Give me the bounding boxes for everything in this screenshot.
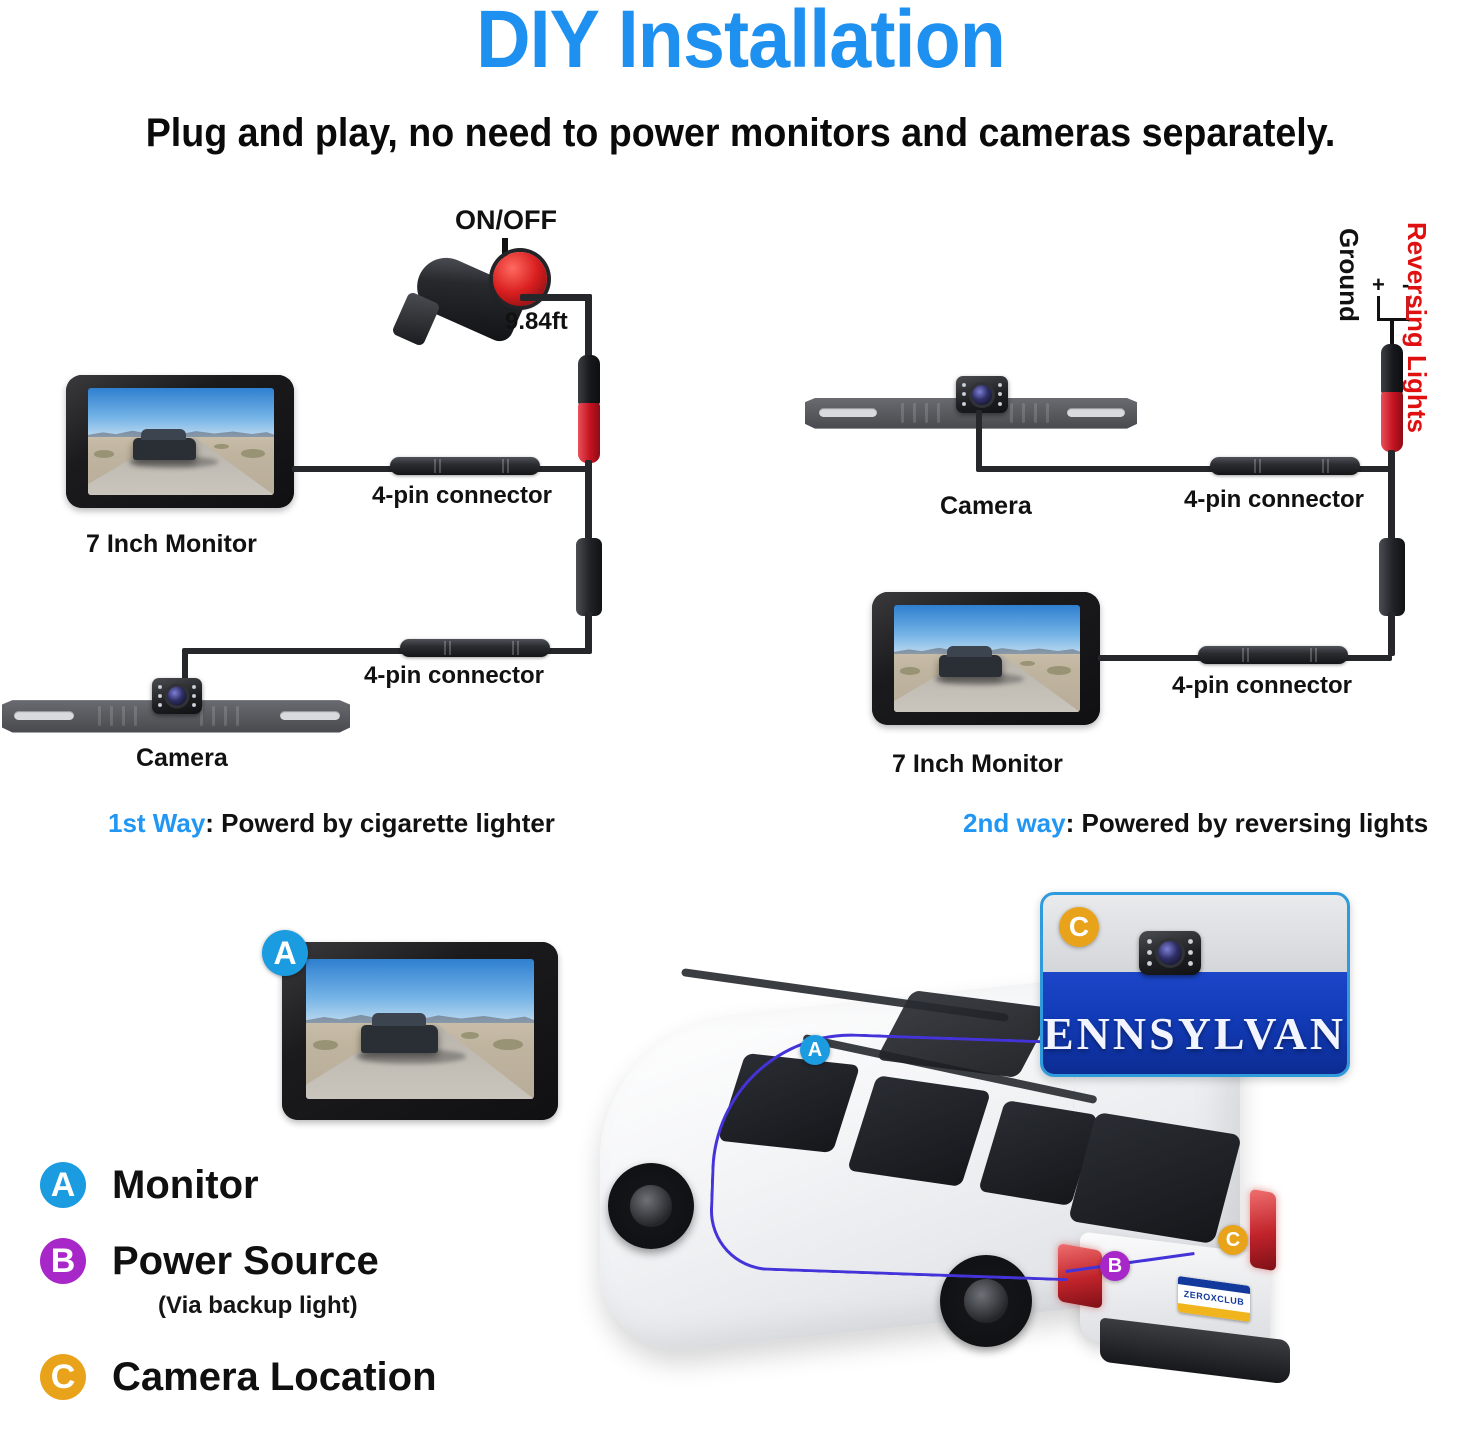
splitter-cable-down xyxy=(1388,612,1395,656)
caption-text: : Powered by reversing lights xyxy=(1066,808,1429,838)
front-wheel xyxy=(608,1163,694,1249)
camera-cable-down xyxy=(976,410,982,470)
4-pin-barrel-connector-icon xyxy=(400,639,550,657)
camera-icon xyxy=(1139,931,1201,975)
ground-lead-wire xyxy=(1377,296,1380,320)
wire-route-a-to-b xyxy=(708,1029,1076,1281)
legend-label-camera-location: Camera Location xyxy=(112,1355,437,1400)
reversing-lights-label: Reversing Lights xyxy=(1401,222,1432,433)
marker-b-car: B xyxy=(1100,1251,1130,1281)
camera-label: Camera xyxy=(136,744,228,773)
right-taillight xyxy=(1250,1189,1276,1272)
power-cable-segment xyxy=(520,294,592,301)
page-subtitle: Plug and play, no need to power monitors… xyxy=(44,108,1436,158)
marker-a-monitor: A xyxy=(262,930,308,976)
4-pin-barrel-connector-icon xyxy=(390,457,540,475)
rear-window-glass xyxy=(1068,1112,1242,1244)
legend-item-monitor: A Monitor xyxy=(40,1162,437,1208)
monitor-label: 7 Inch Monitor xyxy=(86,530,257,559)
monitor-screen-scene xyxy=(88,388,274,495)
monitor-photo xyxy=(282,942,558,1120)
legend-sublabel-power-source: (Via backup light) xyxy=(158,1292,437,1320)
legend-item-power-source: B Power Source xyxy=(40,1238,437,1284)
connector-label-bottom: 4-pin connector xyxy=(364,662,544,690)
monitor-icon xyxy=(872,592,1100,725)
y-splitter-icon xyxy=(576,538,602,616)
monitor-label: 7 Inch Monitor xyxy=(892,750,1063,779)
camera-label: Camera xyxy=(940,492,1032,521)
ground-label: Ground xyxy=(1333,228,1364,322)
connector-label-top: 4-pin connector xyxy=(372,482,552,510)
4-pin-barrel-connector-icon xyxy=(1210,457,1360,475)
marker-c-car: C xyxy=(1218,1225,1248,1255)
dc-power-plug-icon xyxy=(1381,344,1403,452)
reversing-lead-wire xyxy=(1406,296,1409,320)
caption-2nd-way: 2nd way: Powered by reversing lights xyxy=(963,808,1428,839)
onoff-label: ON/OFF xyxy=(455,205,557,236)
monitor-icon xyxy=(66,375,294,508)
legend-label-monitor: Monitor xyxy=(112,1163,259,1208)
marker-a-car: A xyxy=(800,1035,830,1065)
legend-badge-b: B xyxy=(40,1238,86,1284)
infographic-page: DIY Installation Plug and play, no need … xyxy=(0,0,1481,1453)
caption-key: 2nd way xyxy=(963,808,1066,838)
legend-badge-c: C xyxy=(40,1354,86,1400)
caption-text: : Powerd by cigarette lighter xyxy=(205,808,555,838)
page-title: DIY Installation xyxy=(59,0,1422,84)
minus-sign-label: - xyxy=(1402,272,1409,298)
lead-joined-wire xyxy=(1390,318,1394,346)
y-splitter-icon xyxy=(1379,538,1405,616)
caption-key: 1st Way xyxy=(108,808,205,838)
connector-label-bottom: 4-pin connector xyxy=(1172,672,1352,700)
4-pin-barrel-connector-icon xyxy=(1198,646,1348,664)
cable-length-label: 9.84ft xyxy=(505,308,568,336)
caption-1st-way: 1st Way: Powerd by cigarette lighter xyxy=(108,808,555,839)
legend-label-power-source: Power Source xyxy=(112,1239,379,1284)
dc-power-plug-icon xyxy=(578,355,600,463)
camera-icon xyxy=(152,678,202,714)
inset-plate-text: ENNSYLVANI xyxy=(1043,1007,1347,1060)
monitor-screen-scene xyxy=(894,605,1080,712)
dc-cable-down xyxy=(1388,450,1395,542)
monitor-photo-scene xyxy=(306,959,534,1099)
plus-sign-label: + xyxy=(1372,272,1385,298)
legend-item-camera-location: C Camera Location xyxy=(40,1354,437,1400)
dc-cable-down xyxy=(585,460,592,542)
marker-c-inset: C xyxy=(1059,907,1099,947)
connector-label-top: 4-pin connector xyxy=(1184,486,1364,514)
camera-icon xyxy=(956,376,1008,413)
camera-location-inset: ENNSYLVANI C xyxy=(1040,892,1350,1077)
power-cable-down xyxy=(585,294,592,362)
legend: A Monitor B Power Source (Via backup lig… xyxy=(40,1162,437,1414)
legend-badge-a: A xyxy=(40,1162,86,1208)
